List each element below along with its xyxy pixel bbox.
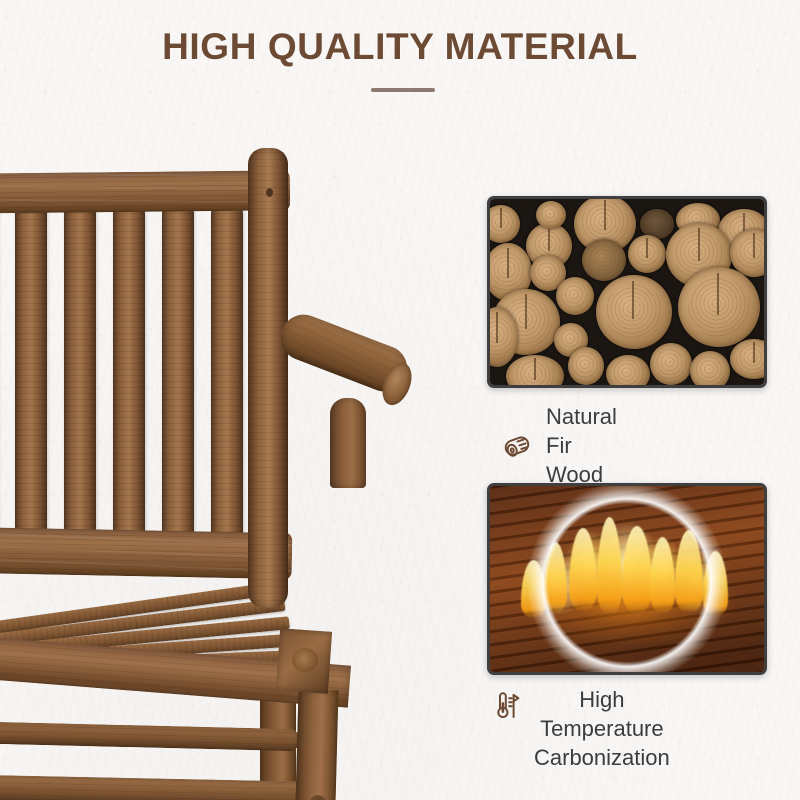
- bench-back-slat: [211, 200, 243, 550]
- feature-label-line2: Carbonization: [534, 745, 670, 770]
- thermometer-heat-icon: [489, 689, 521, 723]
- log-round: [582, 239, 626, 281]
- page-title: HIGH QUALITY MATERIAL: [0, 26, 800, 68]
- logs-photo-frame: [487, 196, 767, 388]
- log-round-large: [596, 275, 672, 349]
- fire-photo-frame: [487, 483, 767, 675]
- log-round: [650, 343, 692, 385]
- title-divider: [371, 88, 435, 92]
- log-round: [487, 205, 520, 243]
- feature-label-natural-fir-wood: Natural Fir Wood: [546, 402, 617, 489]
- bench-back-slat: [162, 200, 194, 550]
- log-round: [568, 347, 604, 385]
- bench-back-top-rail: [0, 170, 290, 213]
- bench-back-slat: [15, 200, 47, 550]
- header: HIGH QUALITY MATERIAL: [0, 0, 800, 120]
- fire-on-wood-image: [490, 486, 764, 672]
- stacked-logs-image: [490, 199, 764, 385]
- log-round-large: [678, 267, 760, 347]
- circular-vignette: [490, 486, 764, 672]
- product-photo-bench: [0, 130, 420, 800]
- feature-label-line1: High Temperature: [540, 687, 664, 741]
- bench-back-slat: [113, 200, 145, 550]
- log-round: [628, 235, 666, 273]
- log-round: [606, 355, 650, 388]
- bench-mid-stretcher: [0, 721, 300, 752]
- log-round: [556, 277, 594, 315]
- caption-high-temperature-carbonization: High Temperature Carbonization: [489, 685, 670, 772]
- bench-armrest-support: [330, 398, 366, 488]
- log-round: [536, 201, 566, 229]
- bench-back-slat: [64, 200, 96, 550]
- caption-natural-fir-wood: Natural Fir Wood: [501, 402, 617, 489]
- feature-label-high-temperature-carbonization: High Temperature Carbonization: [534, 685, 670, 772]
- log-round: [506, 355, 564, 388]
- bench-back-post: [248, 148, 288, 608]
- log-round: [690, 351, 730, 388]
- bench-post-knot: [266, 188, 273, 197]
- bench-front-leg: [294, 690, 339, 800]
- log-round: [730, 339, 767, 379]
- log-timber-icon: [501, 429, 533, 463]
- bench-corner-endgrain: [292, 648, 318, 672]
